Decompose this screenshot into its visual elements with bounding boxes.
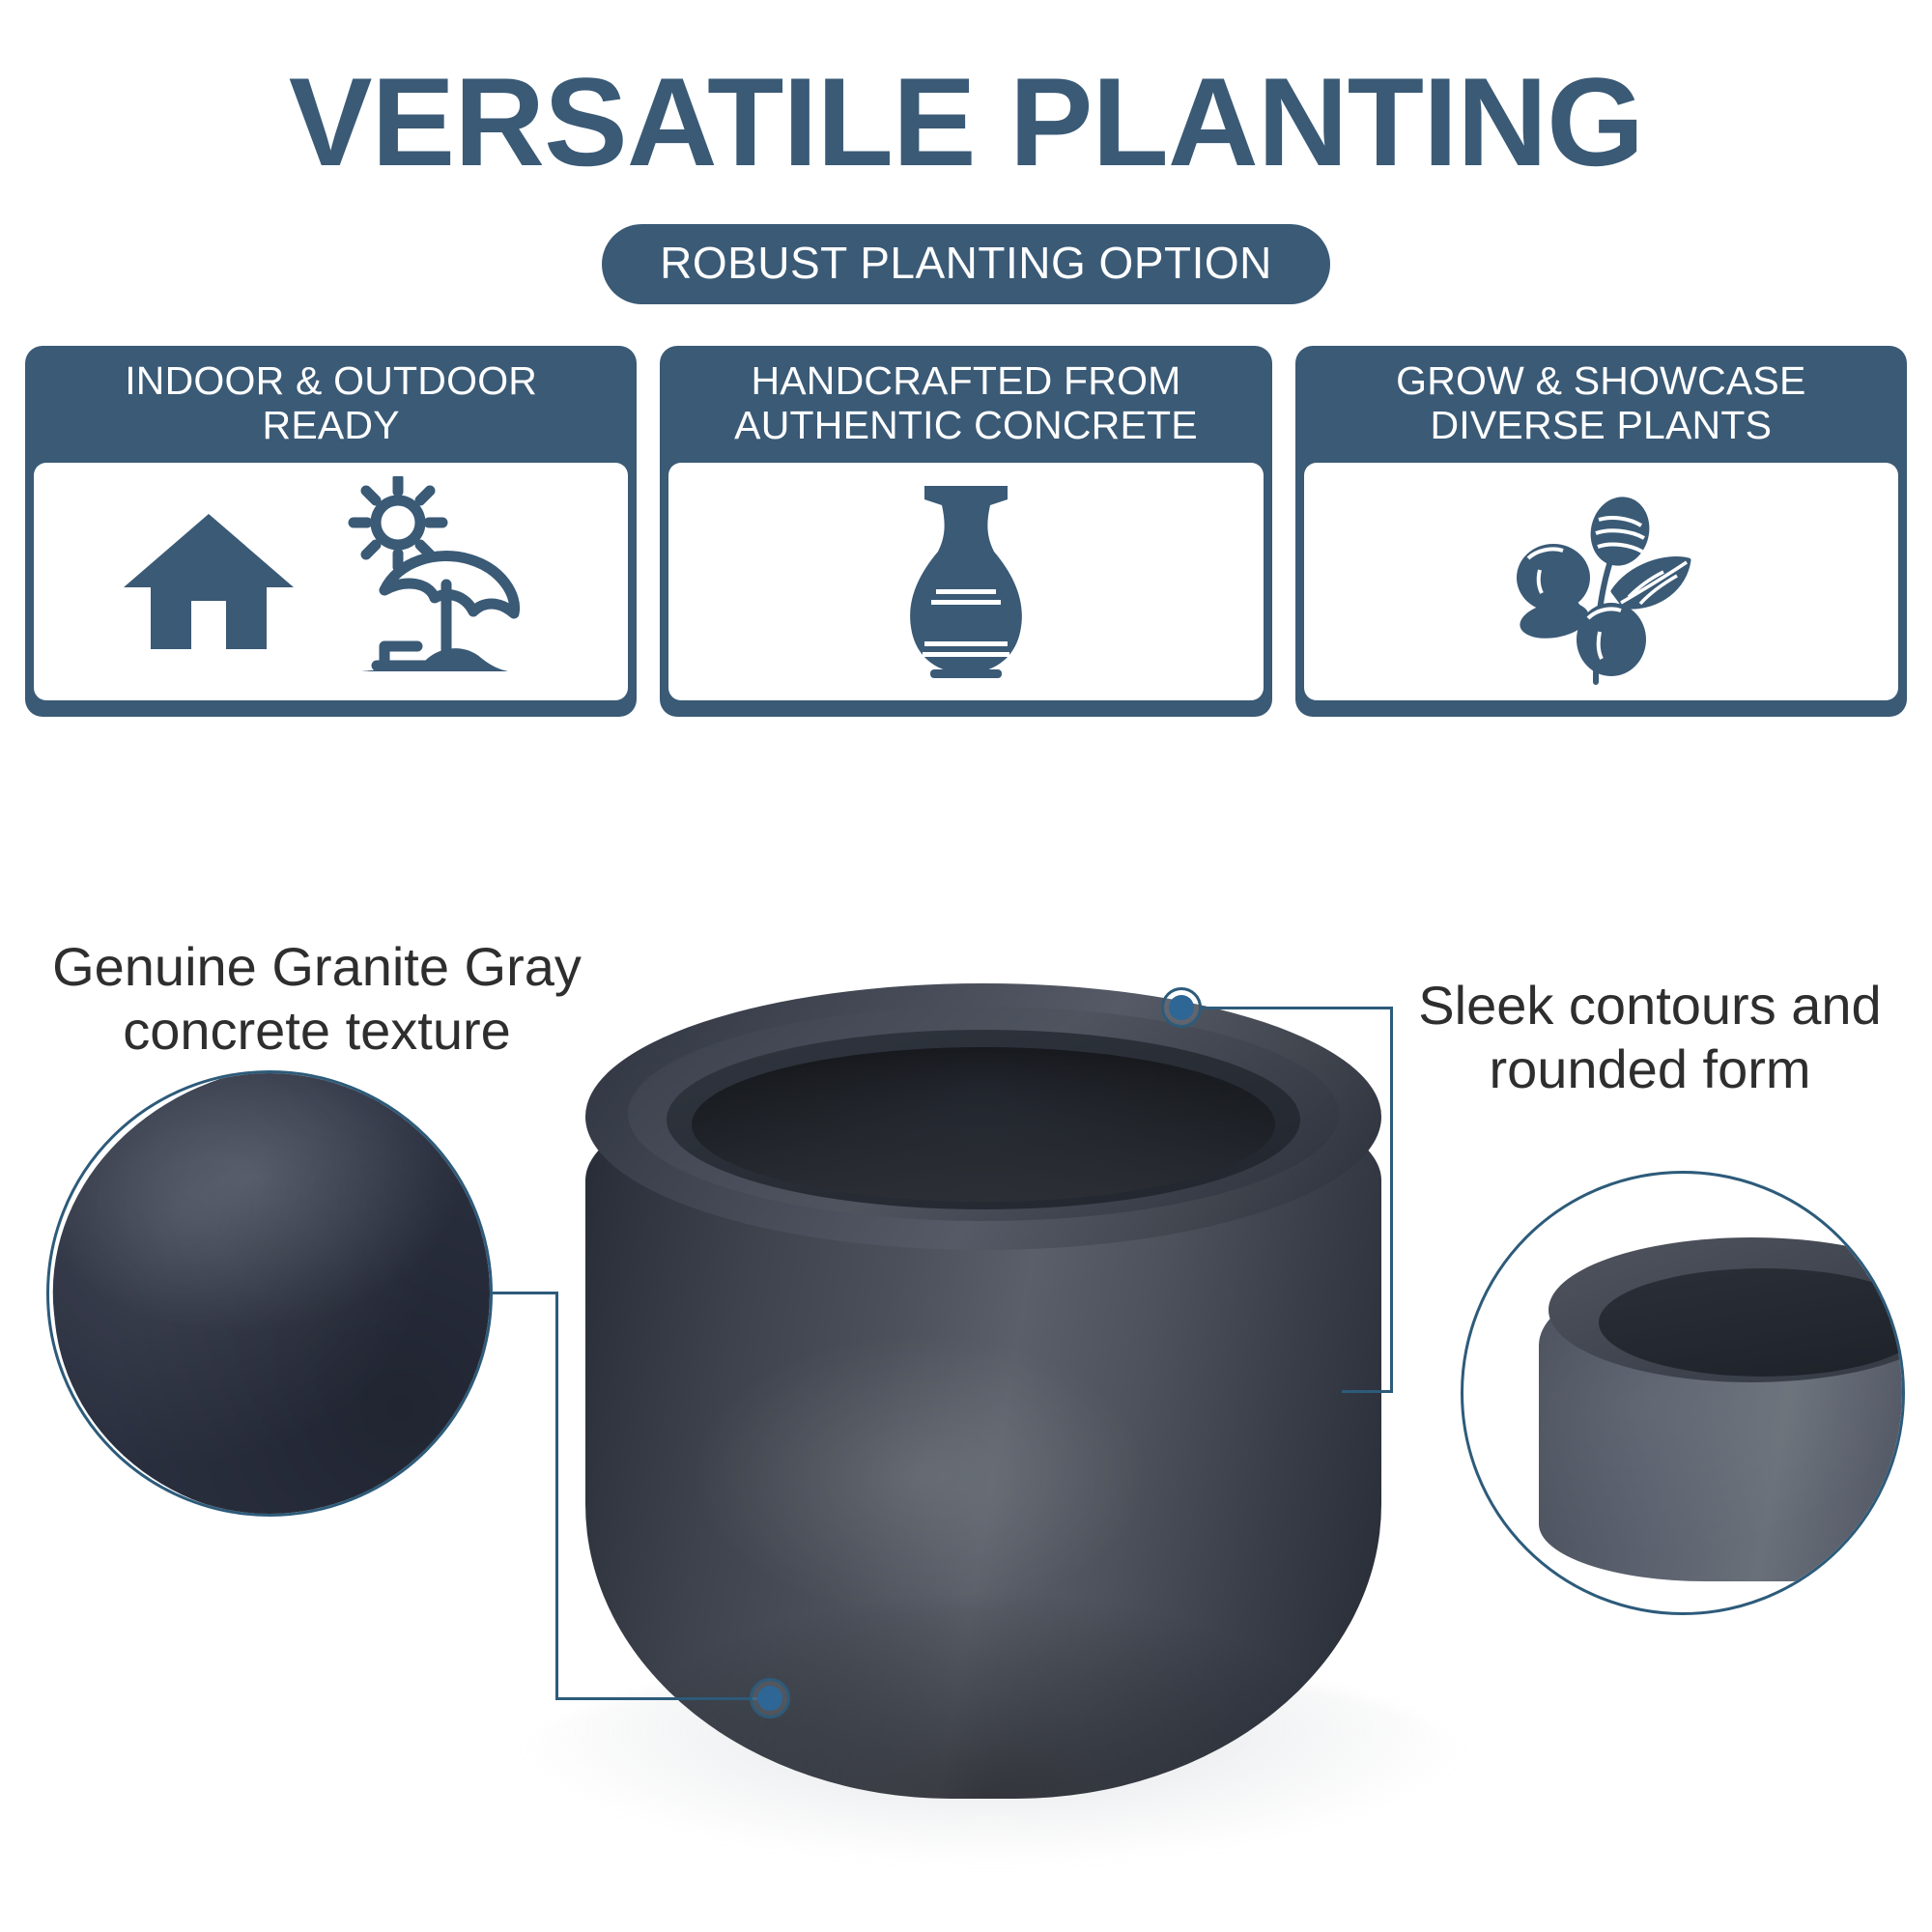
feature-card-3-title: GROW & SHOWCASE DIVERSE PLANTS <box>1295 346 1907 463</box>
vase-icon <box>894 480 1038 683</box>
callout-dot-right <box>1161 987 1202 1028</box>
connector-right-segment-2 <box>1390 1007 1393 1393</box>
feature-card-2-title-line2: AUTHENTIC CONCRETE <box>734 403 1198 447</box>
callout-right-text: Sleek contours and rounded form <box>1381 974 1918 1101</box>
berry-branch-icon <box>1499 477 1702 685</box>
callout-right-line2: rounded form <box>1489 1038 1810 1099</box>
product-planter-image <box>578 983 1389 1804</box>
feature-card-grow-showcase: GROW & SHOWCASE DIVERSE PLANTS <box>1295 346 1907 717</box>
connector-left-segment-2 <box>555 1292 558 1700</box>
sun-beach-umbrella-icon <box>328 476 541 687</box>
feature-card-3-title-line1: GROW & SHOWCASE <box>1396 358 1805 403</box>
badge-container: ROBUST PLANTING OPTION <box>0 224 1932 304</box>
house-icon <box>122 504 296 659</box>
page-title: VERSATILE PLANTING <box>0 56 1932 188</box>
feature-card-1-body <box>34 463 628 700</box>
callout-dot-left-center <box>757 1686 782 1711</box>
feature-card-2-title-line1: HANDCRAFTED FROM <box>751 358 1180 403</box>
feature-card-3-title-line2: DIVERSE PLANTS <box>1430 403 1772 447</box>
detail-circle-rim-closeup <box>1461 1171 1905 1615</box>
feature-card-1-title: INDOOR & OUTDOOR READY <box>25 346 637 463</box>
connector-right-segment-3 <box>1342 1390 1393 1393</box>
callout-left-text: Genuine Granite Gray concrete texture <box>17 935 616 1063</box>
feature-card-indoor-outdoor: INDOOR & OUTDOOR READY <box>25 346 637 717</box>
detail-circle-concrete-texture <box>46 1070 493 1517</box>
callout-left-line2: concrete texture <box>123 1000 511 1061</box>
concrete-texture-closeup-image <box>46 1070 493 1517</box>
feature-card-3-body <box>1304 463 1898 700</box>
feature-card-2-title: HANDCRAFTED FROM AUTHENTIC CONCRETE <box>660 346 1271 463</box>
feature-cards: INDOOR & OUTDOOR READY <box>25 346 1907 717</box>
robust-planting-badge: ROBUST PLANTING OPTION <box>602 224 1330 304</box>
callout-left-line1: Genuine Granite Gray <box>52 936 582 997</box>
feature-card-1-title-line1: INDOOR & OUTDOOR <box>125 358 537 403</box>
planter-rim-closeup-image <box>1539 1228 1905 1614</box>
feature-card-2-body <box>668 463 1263 700</box>
planter-interior <box>692 1047 1275 1202</box>
connector-right-segment-1 <box>1202 1007 1393 1009</box>
callout-right-line1: Sleek contours and <box>1418 975 1881 1036</box>
callout-dot-left <box>750 1678 790 1719</box>
connector-left-segment-3 <box>555 1697 770 1700</box>
connector-left-segment-1 <box>493 1292 558 1294</box>
feature-card-1-title-line2: READY <box>263 403 400 447</box>
feature-card-handcrafted-concrete: HANDCRAFTED FROM AUTHENTIC CONCRETE <box>660 346 1271 717</box>
callout-dot-right-center <box>1169 995 1194 1020</box>
